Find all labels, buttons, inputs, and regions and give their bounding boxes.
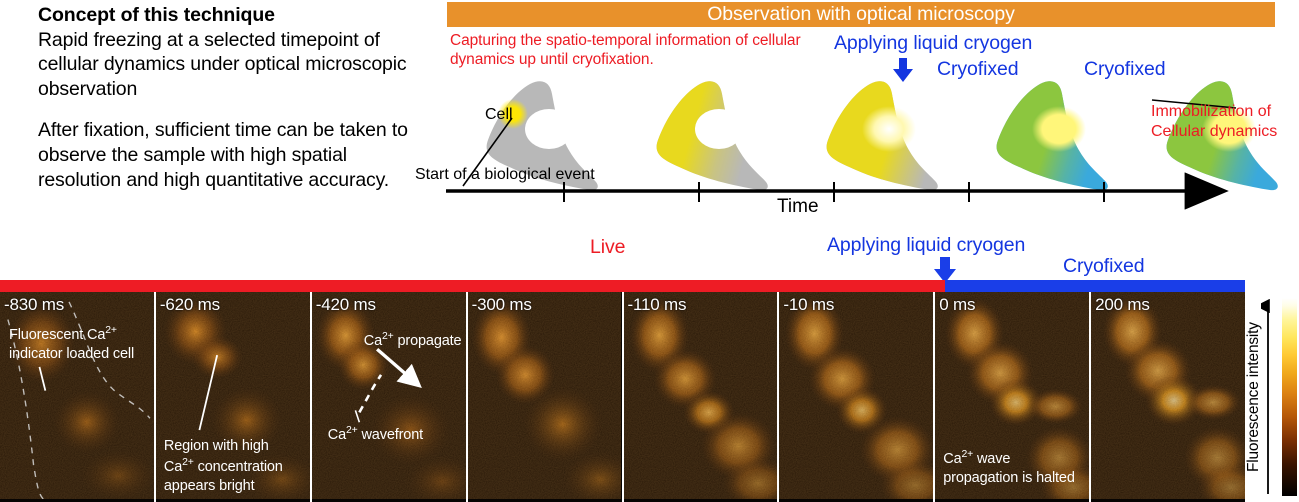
microscopy-panel[interactable]: -10 ms <box>777 292 933 502</box>
panel-time-label: -10 ms <box>783 295 834 315</box>
capture-note: Capturing the spatio-temporal informatio… <box>450 31 820 70</box>
cell-label: Cell <box>485 106 513 124</box>
fluorescence-field <box>312 292 466 499</box>
ca-wavefront-note: Ca2+ wavefront <box>328 424 423 445</box>
ca-propagate-note: Ca2+ propagate <box>364 330 462 351</box>
start-event-label: Start of a biological event <box>415 166 595 184</box>
panel-time-label: -300 ms <box>472 295 532 315</box>
note-line-3: appears bright <box>164 477 283 496</box>
note-line-1: Fluorescent Ca2+ <box>9 324 134 345</box>
colorbar-label: Fluorescence intensity <box>1245 296 1263 498</box>
note-line-2: Ca2+ concentration <box>164 456 283 477</box>
microscopy-panel[interactable]: -620 ms Region with high Ca2+ concentrat… <box>154 292 310 502</box>
panel-time-label: 0 ms <box>939 295 975 315</box>
concept-title: Concept of this technique <box>38 4 428 28</box>
note-line-2: propagation is halted <box>943 469 1074 488</box>
observation-banner-label: Observation with optical microscopy <box>707 3 1015 26</box>
cell-stage-2 <box>648 78 778 198</box>
timeline-diagram <box>430 70 1299 225</box>
note-line-2: indicator loaded cell <box>9 345 134 364</box>
fluorescence-field <box>779 292 933 499</box>
note-line-1: Ca2+ wave <box>943 448 1074 469</box>
immobilization-label: Immobilization of Cellular dynamics <box>1151 102 1277 142</box>
colorbar-arrow-icon <box>1261 296 1275 498</box>
cell-nucleus <box>695 109 743 149</box>
microscopy-panel-strip: -830 ms Fluorescent Ca2+ indicator loade… <box>0 292 1245 502</box>
panel-time-label: 200 ms <box>1095 295 1150 315</box>
concept-paragraph-2: After fixation, sufficient time can be t… <box>38 118 428 192</box>
colorbar: Fluorescence intensity <box>1245 292 1299 502</box>
time-axis-label: Time <box>777 196 819 218</box>
strip-applying-cryogen-label: Applying liquid cryogen <box>827 234 1025 257</box>
cryofixed-status-bar <box>945 280 1245 292</box>
fluorescence-field <box>468 292 622 499</box>
microscopy-panel[interactable]: -830 ms Fluorescent Ca2+ indicator loade… <box>0 292 154 502</box>
observation-banner: Observation with optical microscopy <box>447 2 1275 27</box>
live-status-bar <box>0 280 945 292</box>
fluorescence-field <box>1091 292 1245 499</box>
colorbar-gradient <box>1282 298 1297 496</box>
immobilization-line-2: Cellular dynamics <box>1151 122 1277 142</box>
microscopy-panel[interactable]: -110 ms <box>622 292 778 502</box>
concept-paragraph-1: Rapid freezing at a selected timepoint o… <box>38 28 428 102</box>
microscopy-panel[interactable]: 200 ms <box>1089 292 1245 502</box>
figure-root: Concept of this technique Rapid freezing… <box>0 0 1299 502</box>
diagram-applying-cryogen-label: Applying liquid cryogen <box>834 32 1032 55</box>
high-concentration-note: Region with high Ca2+ concentration appe… <box>164 437 283 495</box>
microscopy-panel[interactable]: -300 ms <box>466 292 622 502</box>
note-line-1: Region with high <box>164 437 283 456</box>
concept-text-block: Concept of this technique Rapid freezing… <box>38 4 428 192</box>
live-label: Live <box>590 236 625 259</box>
microscopy-panel[interactable]: 0 ms Ca2+ wave propagation is halted <box>933 292 1089 502</box>
panel-time-label: -620 ms <box>160 295 220 315</box>
microscopy-panel[interactable]: -420 ms Ca2+ propagate Ca2+ wavefront <box>310 292 466 502</box>
cryofixed-label: Cryofixed <box>1063 255 1144 278</box>
cell-stage-3 <box>818 78 948 198</box>
panel-time-label: -110 ms <box>628 295 687 315</box>
cell-nucleus <box>862 106 916 152</box>
fluorescence-field <box>624 292 778 499</box>
cell-stage-4 <box>988 78 1118 198</box>
cell-nucleus <box>1032 106 1086 152</box>
wave-halted-note: Ca2+ wave propagation is halted <box>943 448 1074 488</box>
fluorescent-indicator-note: Fluorescent Ca2+ indicator loaded cell <box>9 324 134 364</box>
cell-nucleus <box>525 109 573 149</box>
immobilization-line-1: Immobilization of <box>1151 102 1277 122</box>
panel-time-label: -420 ms <box>316 295 376 315</box>
panel-time-label: -830 ms <box>4 295 64 315</box>
